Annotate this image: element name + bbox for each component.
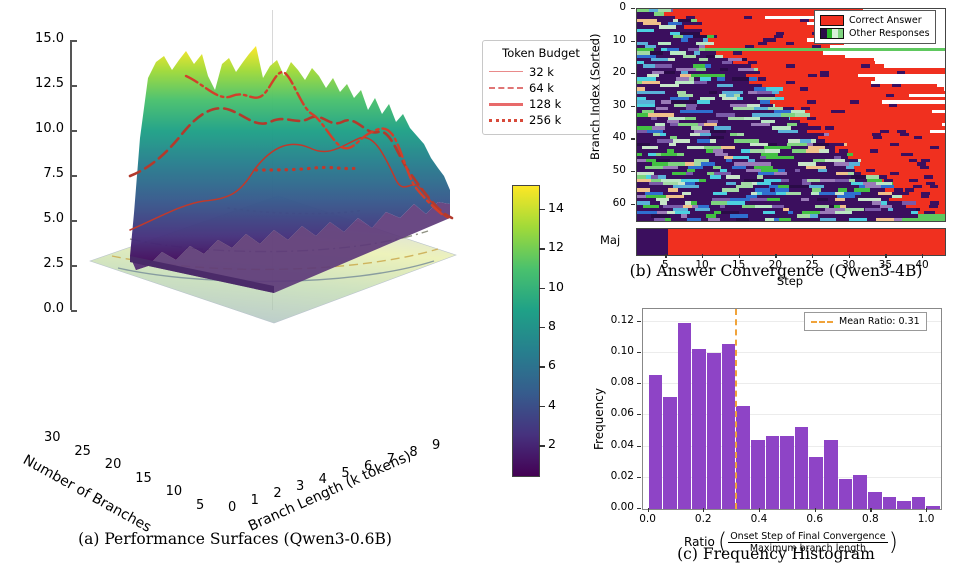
colorbar-tick-mark [539, 406, 545, 407]
histogram-plot [642, 308, 942, 510]
panel-a-performance-surfaces: Accuracy (%) 0.02.55.07.510.012.515.0 [0, 0, 470, 555]
panel-a-surface-plot [78, 18, 458, 348]
x-tick-mark [703, 508, 704, 512]
histogram-bar [678, 323, 692, 509]
colorbar-tick-label: 8 [548, 318, 556, 333]
heatmap-cell [876, 218, 894, 221]
histogram-bar [766, 436, 780, 509]
y-tick-label: 50 [602, 164, 626, 176]
legend-item-32k: 32 k [489, 64, 593, 80]
swatch-cell [838, 29, 844, 38]
y-tick-mark [631, 204, 635, 205]
legend-item-label: 32 k [529, 65, 554, 79]
z-tick-mark [71, 265, 77, 267]
y-tick-mark [631, 73, 635, 74]
panel-c-caption: (c) Frequency Histogram [592, 545, 960, 563]
z-tick-label: 2.5 [18, 256, 64, 271]
z-tick-label: 15.0 [18, 31, 64, 46]
histogram-bar [897, 501, 911, 509]
x-tick-mark [648, 508, 649, 512]
histogram-bar [912, 497, 926, 510]
y-tick-mark [631, 106, 635, 107]
x-tick-label: 0.6 [806, 513, 823, 525]
z-tick-mark [71, 310, 77, 312]
x-tick-label: 0.2 [695, 513, 712, 525]
y-tick-mark [637, 446, 641, 447]
panel-c-frequency-histogram: Frequency 0.000.020.040.060.080.100.12 0… [592, 300, 960, 587]
legend-item-label: 128 k [529, 97, 561, 111]
x-tick-label: 10 [166, 484, 183, 499]
y-tick-label: 0 [228, 500, 236, 515]
histogram-bar [751, 440, 765, 509]
x-tick-mark [926, 508, 927, 512]
majority-row-label: Maj [600, 233, 620, 247]
heatmap-cell [720, 218, 737, 221]
x-tick-mark [922, 254, 923, 258]
legend-item-256k: 256 k [489, 112, 593, 128]
correct-answer-label: Correct Answer [849, 15, 922, 26]
histogram-bar [883, 497, 897, 510]
x-tick-mark [665, 254, 666, 258]
x-tick-label: 30 [44, 430, 61, 445]
majority-vote-row [636, 228, 946, 256]
legend-line-icon [489, 115, 523, 125]
y-tick-mark [631, 138, 635, 139]
mean-ratio-legend: Mean Ratio: 0.31 [804, 312, 927, 331]
y-tick-label: 2 [273, 486, 281, 501]
x-tick-mark [815, 508, 816, 512]
x-tick-mark [702, 254, 703, 258]
x-tick-label: 25 [74, 444, 91, 459]
colorbar-tick-mark [539, 209, 545, 210]
heatmap-cell [749, 218, 765, 221]
maj-cell-other [637, 229, 668, 255]
y-tick-label: 0.06 [594, 407, 634, 419]
maj-cell-correct [668, 229, 945, 255]
legend-row-other: Other Responses [820, 27, 930, 40]
other-responses-swatch [820, 28, 844, 39]
x-tick-label: 5 [196, 498, 204, 513]
x-tick-mark [775, 254, 776, 258]
y-tick-label: 0 [602, 1, 626, 13]
z-tick-label: 0.0 [18, 301, 64, 316]
colorbar-tick-mark [539, 445, 545, 446]
heatmap-cell [836, 218, 849, 221]
x-tick-label: 0.8 [862, 513, 879, 525]
histogram-bar [736, 406, 750, 509]
fraction-numerator: Onset Step of Final Convergence [728, 531, 887, 543]
colorbar-tick-label: 10 [548, 279, 564, 294]
y-tick-mark [631, 171, 635, 172]
colorbar-tick-mark [539, 248, 545, 249]
colorbar-tick-label: 4 [548, 397, 556, 412]
heatmap-cell [820, 218, 837, 221]
x-tick-mark [849, 254, 850, 258]
histogram-bar [707, 353, 721, 509]
x-tick-label: 0.4 [751, 513, 768, 525]
accuracy-colorbar [512, 185, 540, 477]
legend-title: Token Budget [489, 46, 593, 60]
y-tick-label: 3 [296, 479, 304, 494]
legend-item-label: 64 k [529, 81, 554, 95]
y-tick-label: 0.08 [594, 376, 634, 388]
histogram-bar [649, 375, 663, 509]
heatmap-cell [849, 218, 866, 221]
y-tick-label: 0.10 [594, 345, 634, 357]
heatmap-row [637, 218, 945, 221]
y-tick-mark [631, 41, 635, 42]
z-tick-label: 12.5 [18, 76, 64, 91]
histogram-bar [839, 479, 853, 509]
y-tick-label: 0.02 [594, 470, 634, 482]
legend-item-64k: 64 k [489, 80, 593, 96]
x-tick-mark [759, 508, 760, 512]
histogram-bar [926, 506, 940, 509]
x-tick-label: 15 [135, 471, 152, 486]
histogram-bar [692, 349, 706, 509]
colorbar-tick-mark [539, 327, 545, 328]
mean-ratio-line [735, 309, 737, 509]
z-tick-mark [71, 175, 77, 177]
x-tick-mark [870, 508, 871, 512]
histogram-bar [868, 492, 882, 509]
panel-b-legend: Correct Answer Other Responses [814, 10, 936, 44]
y-tick-mark [637, 383, 641, 384]
y-tick-label: 9 [432, 438, 440, 453]
panel-b-y-axis-label: Branch Index (Sorted) [588, 34, 602, 160]
colorbar-tick-label: 2 [548, 436, 556, 451]
colorbar-tick-label: 14 [548, 200, 564, 215]
heatmap-cell [867, 218, 877, 221]
x-tick-mark [812, 254, 813, 258]
other-responses-label: Other Responses [849, 28, 930, 39]
z-tick-label: 7.5 [18, 166, 64, 181]
legend-item-128k: 128 k [489, 96, 593, 112]
y-tick-label: 0.04 [594, 439, 634, 451]
legend-line-icon [489, 83, 523, 93]
colorbar-tick-label: 6 [548, 357, 556, 372]
heatmap-cell [671, 218, 687, 221]
y-tick-label: 10 [602, 34, 626, 46]
colorbar-tick-label: 12 [548, 239, 564, 254]
histogram-bar [795, 427, 809, 509]
legend-line-icon [489, 67, 523, 77]
mean-ratio-line-icon [811, 321, 833, 323]
colorbar-tick-mark [539, 288, 545, 289]
z-tick-mark [71, 220, 77, 222]
y-tick-label: 30 [602, 99, 626, 111]
legend-row-correct: Correct Answer [820, 14, 930, 27]
heatmap-cell [902, 218, 945, 221]
histogram-bar [722, 344, 736, 509]
y-tick-mark [637, 414, 641, 415]
panel-a-x-axis-label: Number of Branches [20, 452, 154, 536]
z-tick-mark [71, 130, 77, 132]
y-tick-mark [637, 477, 641, 478]
heatmap-cell [701, 218, 708, 221]
x-tick-label: 20 [105, 457, 122, 472]
z-tick-mark [71, 85, 77, 87]
z-tick-label: 10.0 [18, 121, 64, 136]
histogram-bar [824, 440, 838, 509]
heatmap-cell [637, 218, 654, 221]
x-tick-mark [739, 254, 740, 258]
legend-item-label: 256 k [529, 113, 561, 127]
x-tick-label: 0.0 [639, 513, 656, 525]
heatmap-cell [779, 218, 791, 221]
histogram-bar [663, 397, 677, 510]
legend-rows: 32 k64 k128 k256 k [489, 64, 593, 128]
y-tick-mark [631, 8, 635, 9]
mean-ratio-label: Mean Ratio: 0.31 [839, 316, 920, 327]
token-budget-legend: Token Budget 32 k64 k128 k256 k [482, 40, 600, 135]
heatmap-cell [807, 218, 820, 221]
heatmap-cell [736, 218, 749, 221]
y-tick-label: 0.00 [594, 501, 634, 513]
z-tick-label: 5.0 [18, 211, 64, 226]
panel-a-caption: (a) Performance Surfaces (Qwen3-0.6B) [0, 530, 470, 548]
histogram-bar [853, 475, 867, 509]
y-tick-label: 40 [602, 131, 626, 143]
y-tick-mark [637, 508, 641, 509]
heatmap-cell [687, 218, 702, 221]
histogram-bar [809, 457, 823, 509]
x-tick-label: 1.0 [918, 513, 935, 525]
legend-line-icon [489, 99, 523, 109]
panel-b-answer-convergence: Branch Index (Sorted) 0102030405060 Maj … [592, 0, 960, 285]
y-tick-mark [637, 352, 641, 353]
heatmap-cell [765, 218, 774, 221]
y-tick-label: 60 [602, 197, 626, 209]
heatmap-cell [791, 218, 807, 221]
surface-svg [78, 18, 458, 348]
correct-answer-swatch [820, 15, 844, 26]
y-tick-label: 1 [251, 493, 259, 508]
y-tick-label: 0.12 [594, 314, 634, 326]
heatmap-cell [654, 218, 665, 221]
y-tick-label: 20 [602, 66, 626, 78]
heatmap-cell [708, 218, 719, 221]
y-tick-mark [637, 321, 641, 322]
panel-b-caption: (b) Answer Convergence (Qwen3-4B) [592, 262, 960, 280]
x-tick-mark [885, 254, 886, 258]
colorbar-tick-mark [539, 366, 545, 367]
panel-a-y-axis-label: Branch Length (k tokens) [246, 448, 414, 534]
z-tick-mark [71, 40, 77, 42]
histogram-bar [780, 436, 794, 509]
